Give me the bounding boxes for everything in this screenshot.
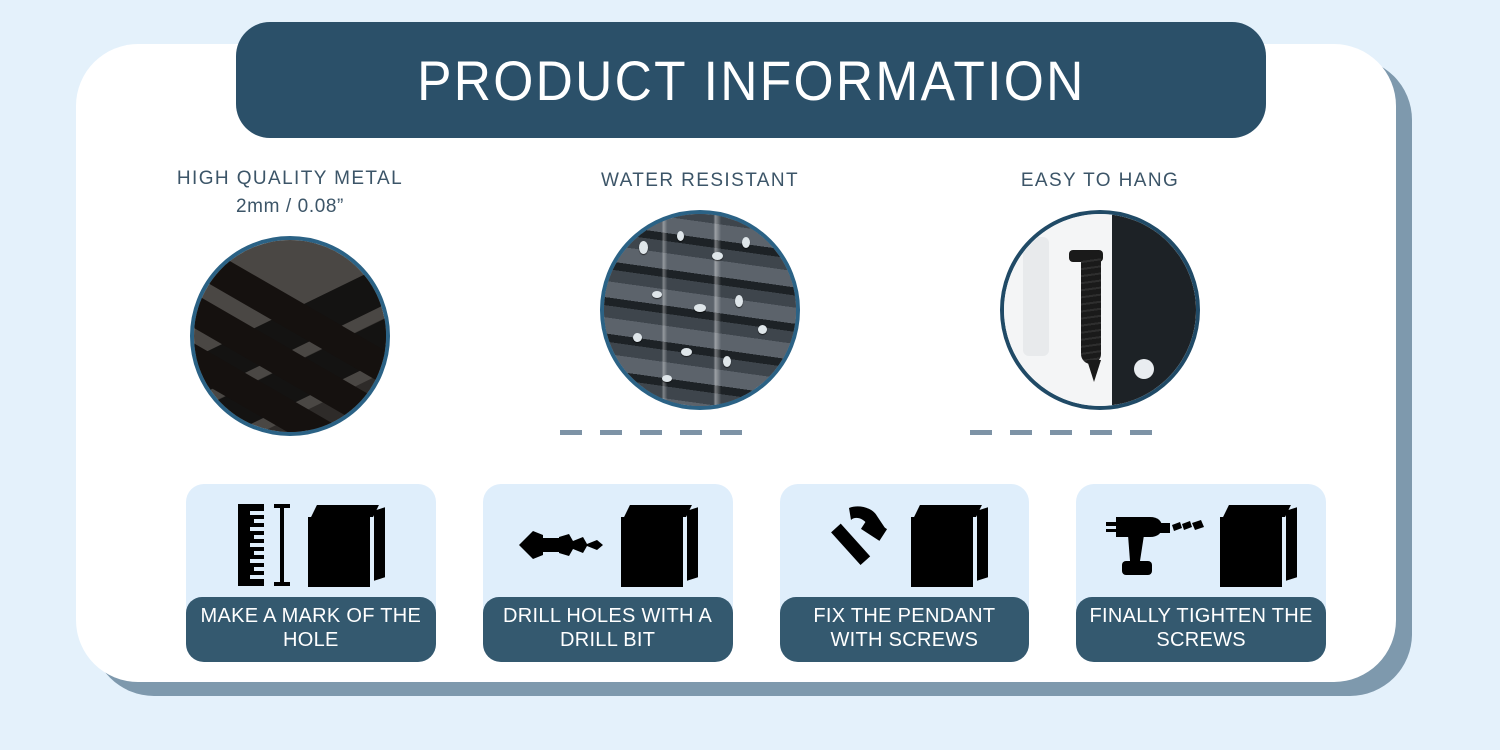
hanging-scene (1004, 214, 1196, 406)
step-label: FINALLY TIGHTEN THE SCREWS (1076, 597, 1326, 662)
feature-water-resistant: WATER RESISTANT (540, 170, 860, 410)
feature-easy-to-hang: EASY TO HANG (940, 170, 1260, 410)
feature-high-quality-metal: HIGH QUALITY METAL 2mm / 0.08” (130, 168, 450, 436)
metal-box-icon (1220, 503, 1298, 587)
step-label: FIX THE PENDANT WITH SCREWS (780, 597, 1030, 662)
screw-tip (1087, 360, 1101, 382)
power-drill-icon (1104, 505, 1208, 585)
connector-dashed-1 (560, 430, 750, 435)
mounting-hole (1134, 359, 1154, 379)
water-drop (662, 375, 672, 382)
step-card-3[interactable]: FIX THE PENDANT WITH SCREWS (780, 484, 1030, 662)
step-icons (1076, 484, 1326, 597)
water-droplets-on-metal-photo (600, 210, 800, 410)
screw-and-mounted-panel-photo (1000, 210, 1200, 410)
step-icons (780, 484, 1030, 597)
installation-steps: MAKE A MARK OF THE HOLE DRILL HOLES WITH… (186, 484, 1326, 662)
header-banner: PRODUCT INFORMATION (236, 22, 1266, 138)
water-drop (735, 295, 743, 307)
dark-panel (1112, 214, 1196, 406)
wall-anchor (1023, 237, 1049, 356)
ruler-icon (236, 500, 296, 590)
step-card-1[interactable]: MAKE A MARK OF THE HOLE (186, 484, 436, 662)
feature-subtitle: 2mm / 0.08” (130, 196, 450, 218)
metal-box-icon (911, 503, 989, 587)
step-icons (483, 484, 733, 597)
page-title: PRODUCT INFORMATION (417, 48, 1086, 113)
water-drop (639, 241, 648, 254)
step-card-2[interactable]: DRILL HOLES WITH A DRILL BIT (483, 484, 733, 662)
hammer-icon (819, 502, 899, 588)
water-drop (633, 333, 642, 342)
features-section: HIGH QUALITY METAL 2mm / 0.08” WATER RES… (110, 160, 1370, 460)
water-drop (652, 291, 662, 298)
metal-box-icon (308, 503, 386, 587)
feature-title: WATER RESISTANT (540, 170, 860, 192)
feature-title: HIGH QUALITY METAL (130, 168, 450, 190)
feature-title: EASY TO HANG (940, 170, 1260, 192)
connector-dashed-2 (970, 430, 1155, 435)
metal-box-icon (621, 503, 699, 587)
water-drop (758, 325, 767, 334)
step-icons (186, 484, 436, 597)
stacked-metal-plates-photo (190, 236, 390, 436)
step-label: DRILL HOLES WITH A DRILL BIT (483, 597, 733, 662)
screw-shaft (1081, 256, 1101, 364)
step-card-4[interactable]: FINALLY TIGHTEN THE SCREWS (1076, 484, 1326, 662)
drill-bit-icon (517, 515, 609, 575)
step-label: MAKE A MARK OF THE HOLE (186, 597, 436, 662)
